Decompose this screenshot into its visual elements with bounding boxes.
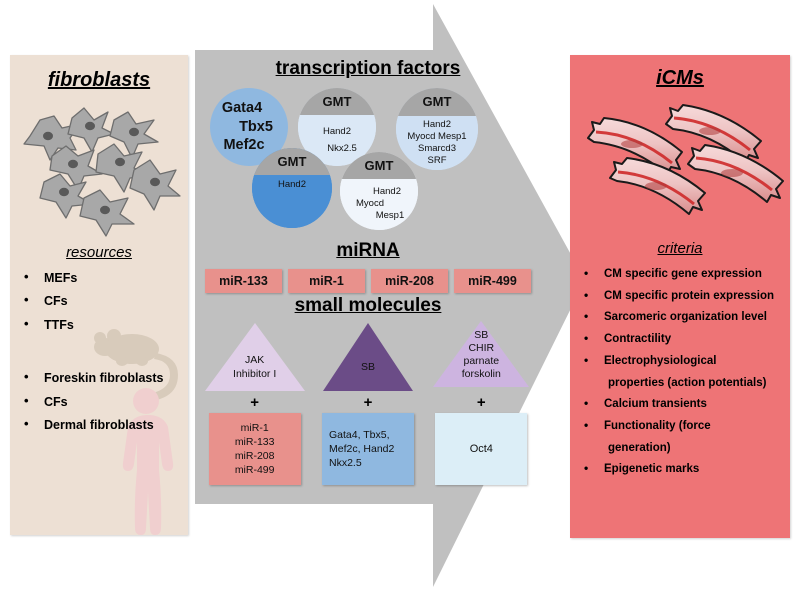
triangle-line: forskolin [429, 368, 533, 381]
list-item: Sarcomeric organization level [570, 310, 790, 325]
icms-title: iCMs [570, 67, 790, 90]
triangle-line: JAK [203, 354, 307, 367]
box-line: miR-1 [241, 421, 269, 435]
box-line: Gata4, Tbx5, [329, 428, 390, 442]
mirna-box: miR-208 [371, 269, 448, 293]
list-item: Electrophysiological [570, 354, 790, 369]
triangle-line: SB [316, 361, 420, 374]
criteria-list: CM specific gene expression CM specific … [570, 267, 790, 477]
tf-line: Mesp1 [376, 210, 405, 222]
triangle-sb: SB [316, 321, 420, 393]
mirna-box: miR-1 [288, 269, 365, 293]
center-content: transcription factors Gata4 Tbx5 Mef2c G… [198, 50, 538, 545]
tf-line: Hand2 [278, 179, 306, 191]
tf-line: Hand2 [373, 186, 401, 198]
resources-title: resources [10, 244, 188, 261]
list-item: Calcium transients [570, 397, 790, 412]
plus-sign: + [364, 394, 373, 411]
tf-circle-gmt-hand2: GMT Hand2 [252, 148, 332, 228]
mirna-box: miR-133 [205, 269, 282, 293]
list-item: MEFs [10, 271, 188, 285]
list-item: TTFs [10, 318, 188, 332]
cardiomyocyte-cells-illustration [570, 94, 790, 234]
triangle-line: SB [429, 329, 533, 342]
list-item: CM specific protein expression [570, 289, 790, 304]
list-item: Dermal fibroblasts [10, 418, 188, 432]
small-molecule-column-sb: SB + Gata4, Tbx5, Mef2c, Hand2 Nkx2.5 [315, 321, 421, 485]
triangle-jak-inhibitor: JAK Inhibitor I [203, 321, 307, 393]
box-line: miR-208 [235, 449, 275, 463]
triangle-line: CHIR [429, 342, 533, 355]
transcription-factors-title: transcription factors [198, 58, 538, 80]
human-resources-list: Foreskin fibroblasts CFs Dermal fibrobla… [10, 371, 188, 432]
tf-circle-header: GMT [340, 152, 418, 179]
small-molecule-column-sb-chir: SB CHIR parnate forskolin + Oct4 [428, 321, 534, 485]
mirna-box: miR-499 [454, 269, 531, 293]
small-molecules-title: small molecules [198, 295, 538, 317]
tf-line: SRF [428, 155, 447, 167]
triangle-line: parnate [429, 355, 533, 368]
tf-line: Hand2 [323, 126, 351, 138]
box-line: Oct4 [470, 442, 493, 457]
list-item: CFs [10, 294, 188, 308]
tf-circle-header: GMT [298, 88, 376, 115]
tf-circle-gmt-hand2-myocd-mesp1: GMT Hand2 Myocd Mesp1 [340, 152, 418, 230]
box-line: miR-133 [235, 435, 275, 449]
tf-line: Smarcd3 [418, 143, 456, 155]
tf-line: Myocd Mesp1 [407, 131, 466, 143]
small-molecule-box-factors: Gata4, Tbx5, Mef2c, Hand2 Nkx2.5 [322, 413, 414, 485]
tf-circle-header: GMT [252, 148, 332, 175]
tf-line: Tbx5 [239, 118, 273, 137]
tf-line: Hand2 [423, 119, 451, 131]
tf-circle-body: Hand2 Myocd Mesp1 [340, 179, 418, 230]
small-molecule-box-oct4: Oct4 [435, 413, 527, 485]
fibroblasts-panel: fibroblasts [10, 55, 188, 535]
small-molecule-box-mirnas: miR-1 miR-133 miR-208 miR-499 [209, 413, 301, 485]
fibroblasts-title: fibroblasts [10, 69, 188, 92]
box-line: Mef2c, Hand2 [329, 442, 394, 456]
box-line: miR-499 [235, 463, 275, 477]
mirna-boxes-row: miR-133 miR-1 miR-208 miR-499 [198, 269, 538, 293]
list-item: Functionality (force [570, 419, 790, 434]
list-item: Contractility [570, 332, 790, 347]
small-molecules-row: JAK Inhibitor I + miR-1 miR-133 miR-208 … [198, 321, 538, 485]
mouse-resources-list: MEFs CFs TTFs [10, 271, 188, 332]
list-item: CM specific gene expression [570, 267, 790, 282]
list-item: Foreskin fibroblasts [10, 371, 188, 385]
fibroblast-cells-illustration [10, 98, 188, 238]
icms-panel: iCMs [570, 55, 790, 538]
plus-sign: + [477, 394, 486, 411]
tf-circle-body: Hand2 [252, 175, 332, 228]
plus-sign: + [250, 394, 259, 411]
box-line: Nkx2.5 [329, 456, 362, 470]
list-item-continuation: generation) [570, 441, 790, 456]
mirna-title: miRNA [198, 240, 538, 262]
list-item: CFs [10, 395, 188, 409]
tf-line: Myocd [356, 198, 384, 210]
transcription-factor-circles: Gata4 Tbx5 Mef2c GMT Hand2 Nkx2.5 GMT Ha… [198, 86, 538, 236]
criteria-title: criteria [570, 240, 790, 257]
triangle-sb-chir-parnate-forskolin: SB CHIR parnate forskolin [429, 321, 533, 393]
list-item-continuation: properties (action potentials) [570, 376, 790, 391]
tf-line: Gata4 [222, 99, 262, 118]
triangle-line: Inhibitor I [203, 368, 307, 381]
tf-circle-header: GMT [396, 88, 478, 116]
small-molecule-column-jak: JAK Inhibitor I + miR-1 miR-133 miR-208 … [202, 321, 308, 485]
list-item: Epigenetic marks [570, 462, 790, 477]
